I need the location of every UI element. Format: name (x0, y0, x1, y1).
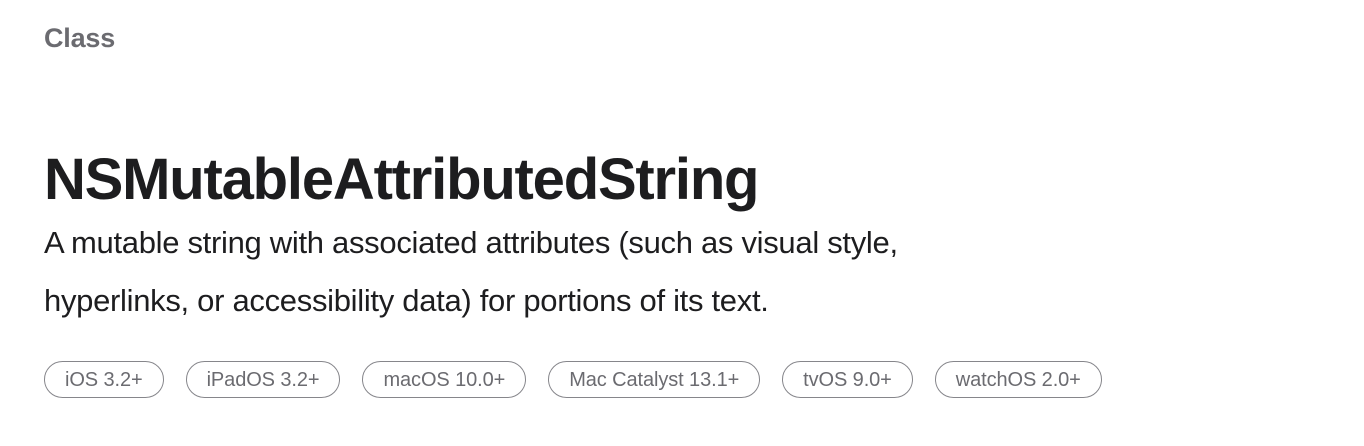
abstract-line-1: A mutable string with associated attribu… (44, 214, 1224, 272)
platform-availability-list: iOS 3.2+ iPadOS 3.2+ macOS 10.0+ Mac Cat… (44, 361, 1102, 398)
platform-badge-ios[interactable]: iOS 3.2+ (44, 361, 164, 398)
platform-badge-mac-catalyst[interactable]: Mac Catalyst 13.1+ (548, 361, 760, 398)
platform-badge-tvos[interactable]: tvOS 9.0+ (782, 361, 913, 398)
documentation-page: Class NSMutableAttributedString A mutabl… (0, 0, 1364, 446)
platform-badge-macos[interactable]: macOS 10.0+ (362, 361, 526, 398)
symbol-kind-eyebrow: Class (44, 22, 115, 54)
abstract-description: A mutable string with associated attribu… (44, 214, 1224, 330)
page-title: NSMutableAttributedString (44, 147, 758, 213)
platform-badge-ipados[interactable]: iPadOS 3.2+ (186, 361, 341, 398)
platform-badge-watchos[interactable]: watchOS 2.0+ (935, 361, 1102, 398)
abstract-line-2: hyperlinks, or accessibility data) for p… (44, 272, 1224, 330)
